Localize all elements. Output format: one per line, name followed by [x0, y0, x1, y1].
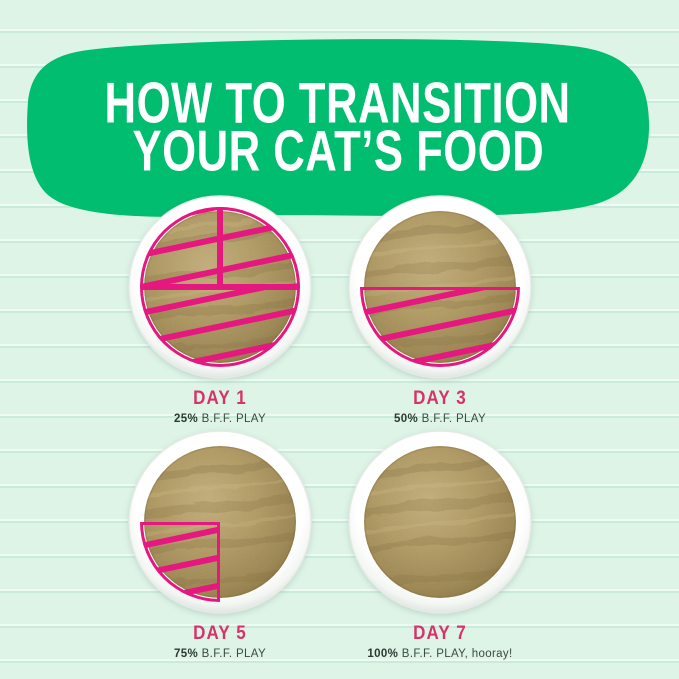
bowl-wrap-2: [346, 193, 534, 381]
percent-suffix-3: B.F.F. PLAY: [198, 648, 266, 660]
bowl-wrap-4: [346, 428, 534, 616]
percent-value-3: 75%: [174, 648, 198, 660]
percent-line-4: 100% B.F.F. PLAY, hooray!: [320, 648, 560, 660]
title-banner: [26, 36, 650, 218]
food-bowl-icon: [346, 428, 534, 616]
step-card-day-7: DAY 7 100% B.F.F. PLAY, hooray!: [320, 428, 560, 660]
food-bowl-icon: [126, 193, 314, 381]
step-card-day-1: DAY 1 25% B.F.F. PLAY: [100, 193, 340, 425]
bowl-wrap-1: [126, 193, 314, 381]
infographic-page: HOW TO TRANSITION YOUR CAT’S FOOD: [0, 0, 679, 679]
day-label-3: DAY 5: [100, 622, 340, 644]
percent-line-2: 50% B.F.F. PLAY: [320, 413, 560, 425]
step-card-day-5: DAY 5 75% B.F.F. PLAY: [100, 428, 340, 660]
percent-suffix-2: B.F.F. PLAY: [418, 413, 486, 425]
step-card-day-3: DAY 3 50% B.F.F. PLAY: [320, 193, 560, 425]
day-label-1: DAY 1: [100, 387, 340, 409]
percent-suffix-4: B.F.F. PLAY, hooray!: [398, 648, 512, 660]
day-label-2: DAY 3: [320, 387, 560, 409]
banner-blob-shape: [27, 39, 649, 217]
food-bowl-icon: [126, 428, 314, 616]
bowl-wrap-3: [126, 428, 314, 616]
percent-line-3: 75% B.F.F. PLAY: [100, 648, 340, 660]
percent-suffix-1: B.F.F. PLAY: [198, 413, 266, 425]
food-bowl-icon: [346, 193, 534, 381]
percent-line-1: 25% B.F.F. PLAY: [100, 413, 340, 425]
day-label-4: DAY 7: [320, 622, 560, 644]
percent-value-1: 25%: [174, 413, 198, 425]
percent-value-2: 50%: [394, 413, 418, 425]
percent-value-4: 100%: [367, 648, 398, 660]
